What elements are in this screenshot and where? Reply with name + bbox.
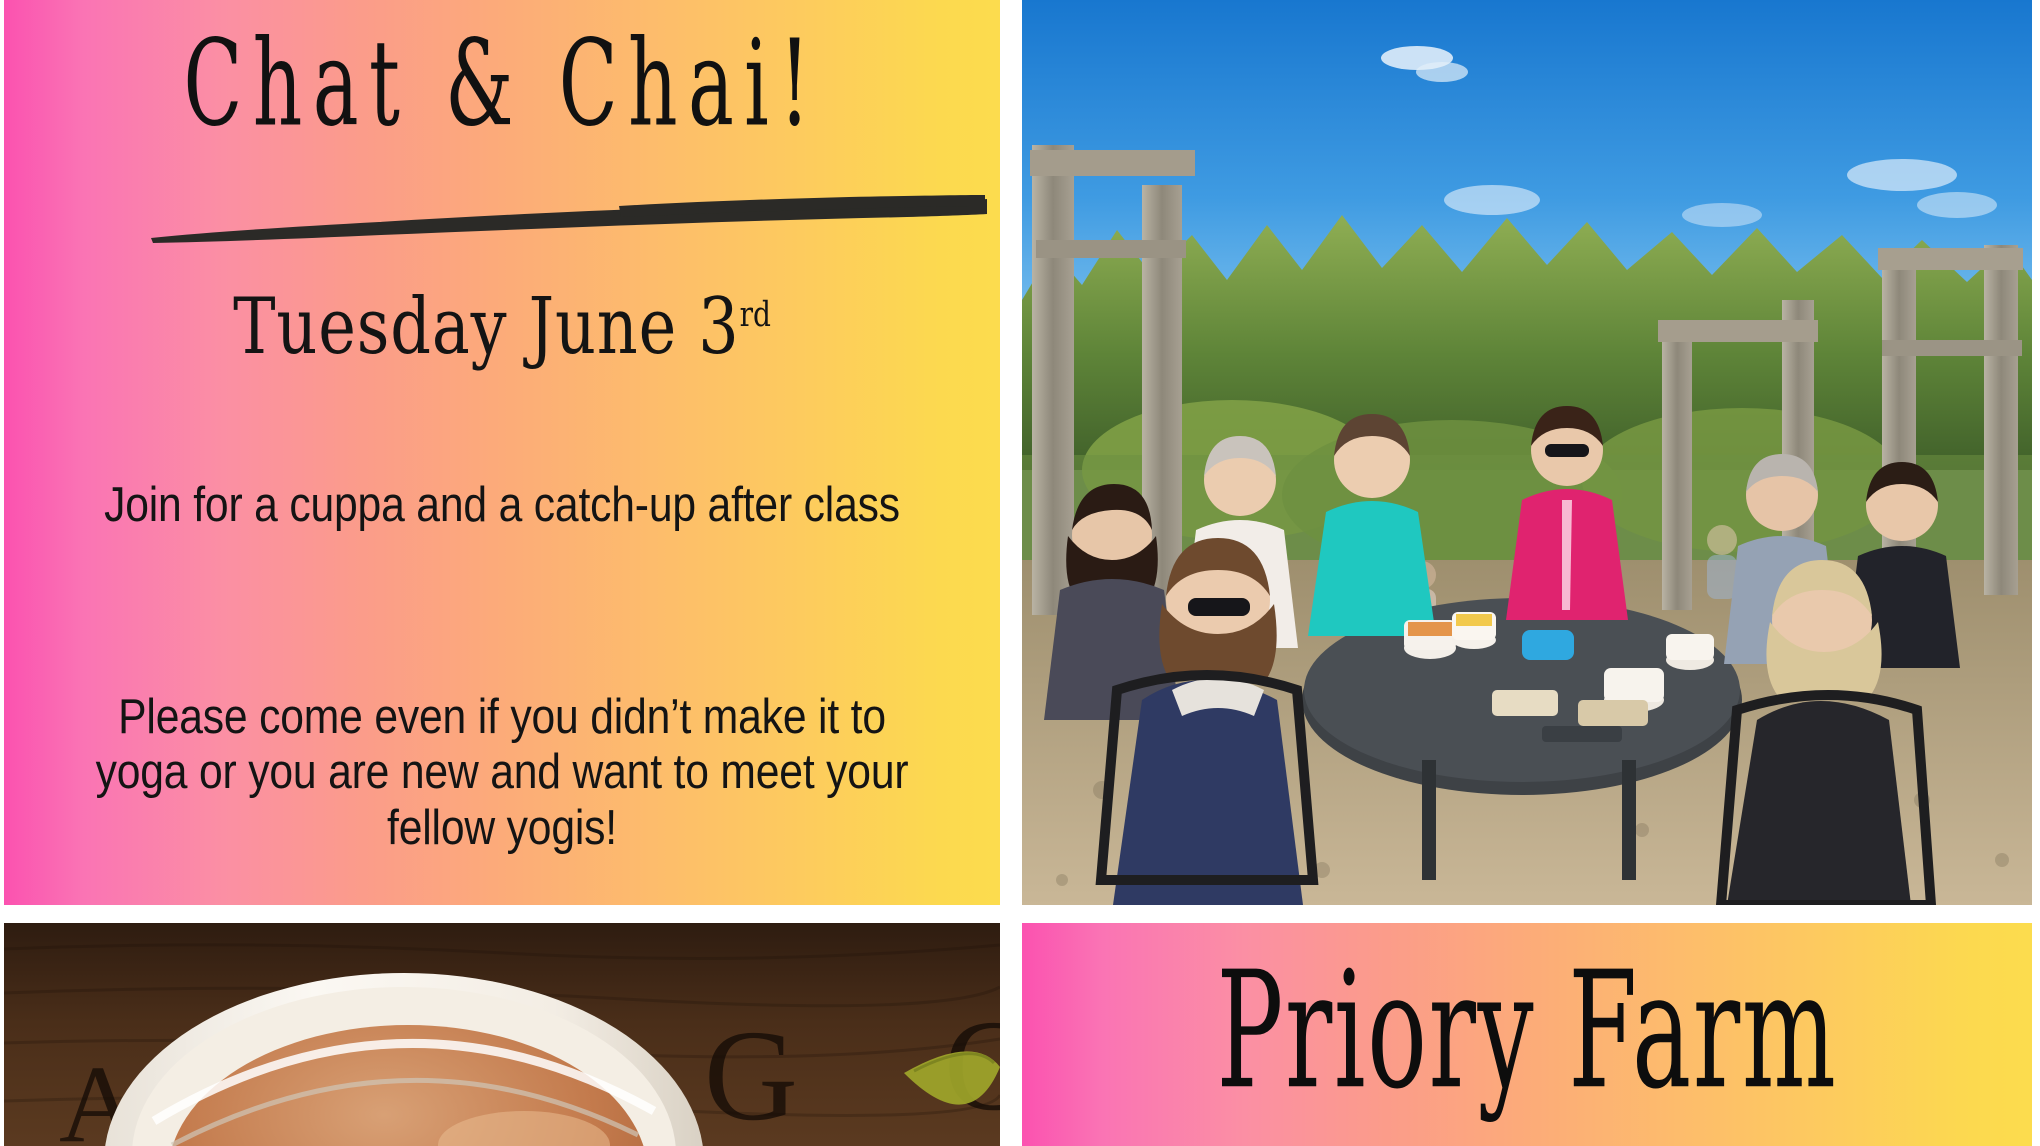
event-body-line-2: Please come even if you didn’t make it t… bbox=[91, 690, 912, 856]
brush-underline-icon bbox=[149, 186, 989, 244]
svg-text:G: G bbox=[704, 1004, 798, 1146]
poster-canvas: Chat & Chai! Tuesday June 3rd Join for a… bbox=[0, 0, 2040, 1146]
venue-card: Priory Farm bbox=[1022, 923, 2032, 1146]
event-date: Tuesday June 3rd bbox=[74, 288, 931, 366]
group-photo bbox=[1022, 0, 2032, 905]
page-title: Chat & Chai! bbox=[133, 22, 870, 146]
event-details-card: Chat & Chai! Tuesday June 3rd Join for a… bbox=[4, 0, 1000, 905]
tea-photo: A G C bbox=[4, 923, 1000, 1146]
event-date-main: Tuesday June 3 bbox=[233, 282, 740, 372]
event-body-line-1: Join for a cuppa and a catch-up after cl… bbox=[91, 478, 912, 533]
event-date-ordinal: rd bbox=[740, 295, 771, 335]
venue-name: Priory Farm bbox=[1123, 951, 1931, 1112]
